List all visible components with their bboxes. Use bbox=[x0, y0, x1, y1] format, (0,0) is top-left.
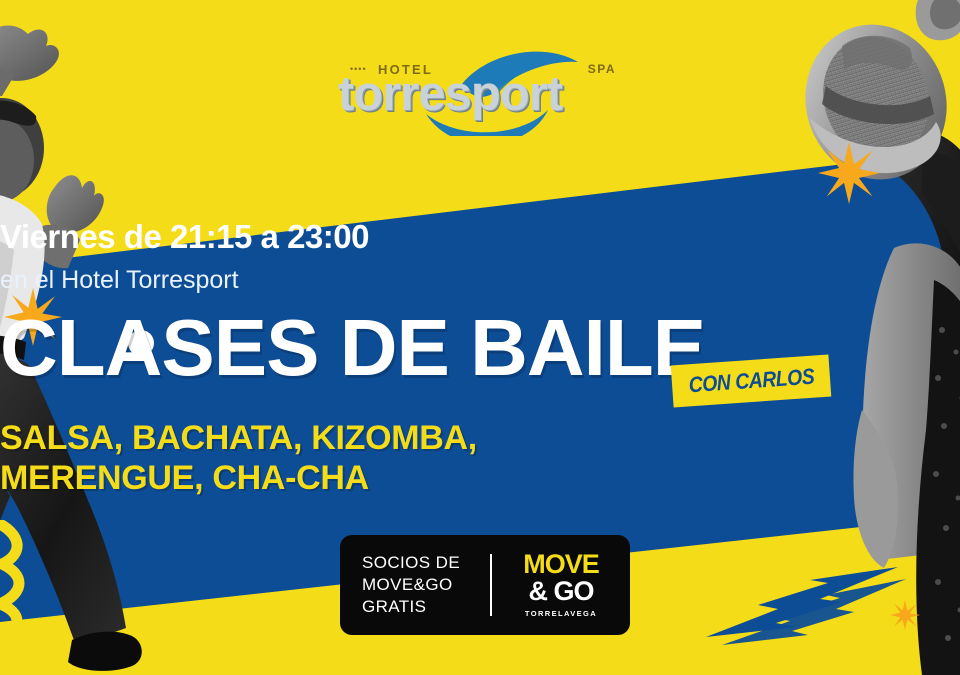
hotel-torresport-logo: •••• HOTEL SPA torresport bbox=[330, 48, 630, 136]
offer-line-1: SOCIOS DE bbox=[362, 552, 490, 574]
movego-city-label: TORRELAVEGA bbox=[525, 609, 597, 618]
movego-go-word: & GO bbox=[528, 578, 593, 605]
offer-line-2: MOVE&GO bbox=[362, 574, 490, 596]
offer-badge: SOCIOS DE MOVE&GO GRATIS MOVE & GO TORRE… bbox=[340, 535, 630, 635]
offer-text: SOCIOS DE MOVE&GO GRATIS bbox=[340, 552, 490, 618]
poster-canvas: •••• HOTEL SPA torresport Viernes de 21:… bbox=[0, 0, 960, 675]
schedule-line: Viernes de 21:15 a 23:00 bbox=[0, 218, 960, 256]
movego-move-word: MOVE bbox=[523, 552, 599, 578]
dance-styles-list: SALSA, BACHATA, KIZOMBA, MERENGUE, CHA-C… bbox=[0, 418, 960, 498]
dancer-woman-photo bbox=[838, 130, 960, 675]
movego-logo: MOVE & GO TORRELAVEGA bbox=[492, 552, 630, 618]
offer-line-3: GRATIS bbox=[362, 596, 490, 618]
venue-line: en el Hotel Torresport bbox=[0, 266, 960, 295]
dance-styles-line-2: MERENGUE, CHA-CHA bbox=[0, 458, 960, 498]
dance-styles-line-1: SALSA, BACHATA, KIZOMBA, bbox=[0, 418, 960, 458]
instructor-name: CON CARLOS bbox=[687, 364, 814, 399]
logo-wordmark: torresport bbox=[338, 70, 628, 119]
